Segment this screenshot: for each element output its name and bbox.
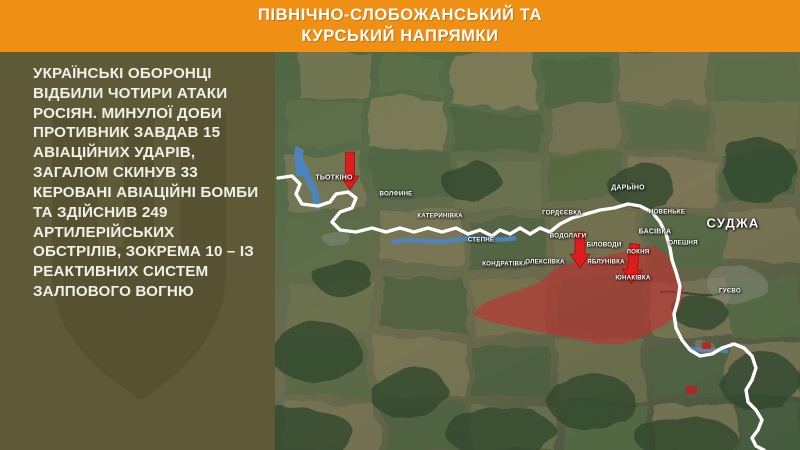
summary-text: УКРАЇНСЬКІ ОБОРОНЦІ ВІДБИЛИ ЧОТИРИ АТАКИ… — [0, 52, 275, 302]
summary-panel: УКРАЇНСЬКІ ОБОРОНЦІ ВІДБИЛИ ЧОТИРИ АТАКИ… — [0, 52, 275, 450]
map-label-0: ТЬОТКІНО — [315, 175, 352, 182]
map-label-7: ВОДОЛАГИ — [550, 233, 586, 240]
header-banner: ПІВНІЧНО-СЛОБОЖАНСЬКИЙ ТА КУРСЬКИЙ НАПРЯ… — [0, 0, 800, 52]
map-label-17: ГУЄВО — [719, 288, 741, 295]
map-label-14: ЛОКНЯ — [627, 249, 650, 256]
header-title-line-1: ПІВНІЧНО-СЛОБОЖАНСЬКИЙ ТА — [258, 5, 542, 26]
river-seym-east — [392, 238, 516, 242]
map-label-4: КОНДРАТІВКА — [482, 261, 528, 268]
map-label-15: ЮНАКІВКА — [615, 275, 650, 282]
map-label-3: СТЕПНЕ — [468, 237, 494, 244]
map-label-5: ОЛЕКСІЇВКА — [525, 259, 564, 266]
map-label-11: НОВЕНЬКЕ — [649, 209, 685, 216]
map-label-2: КАТЕРИНІВКА — [417, 213, 463, 220]
map-label-10: ДАРЬЇНО — [611, 185, 645, 192]
map-label-12: БАСІВКА — [639, 229, 671, 236]
map-label-16: СУДЖА — [706, 216, 759, 231]
map-label-13: ОЛЕШНЯ — [668, 240, 697, 247]
map-label-9: ЯБЛУНІВКА — [587, 259, 625, 266]
map-label-6: ГОРДЄЄВКА — [542, 210, 582, 217]
infographic-root: ТЬОТКІНОВОЛФИНЕКАТЕРИНІВКАСТЕПНЕКОНДРАТІ… — [0, 0, 800, 450]
map-label-8: БІЛОВОДИ — [587, 242, 622, 249]
map-label-1: ВОЛФИНЕ — [379, 191, 412, 198]
header-title-line-2: КУРСЬКИЙ НАПРЯМКИ — [301, 26, 498, 47]
